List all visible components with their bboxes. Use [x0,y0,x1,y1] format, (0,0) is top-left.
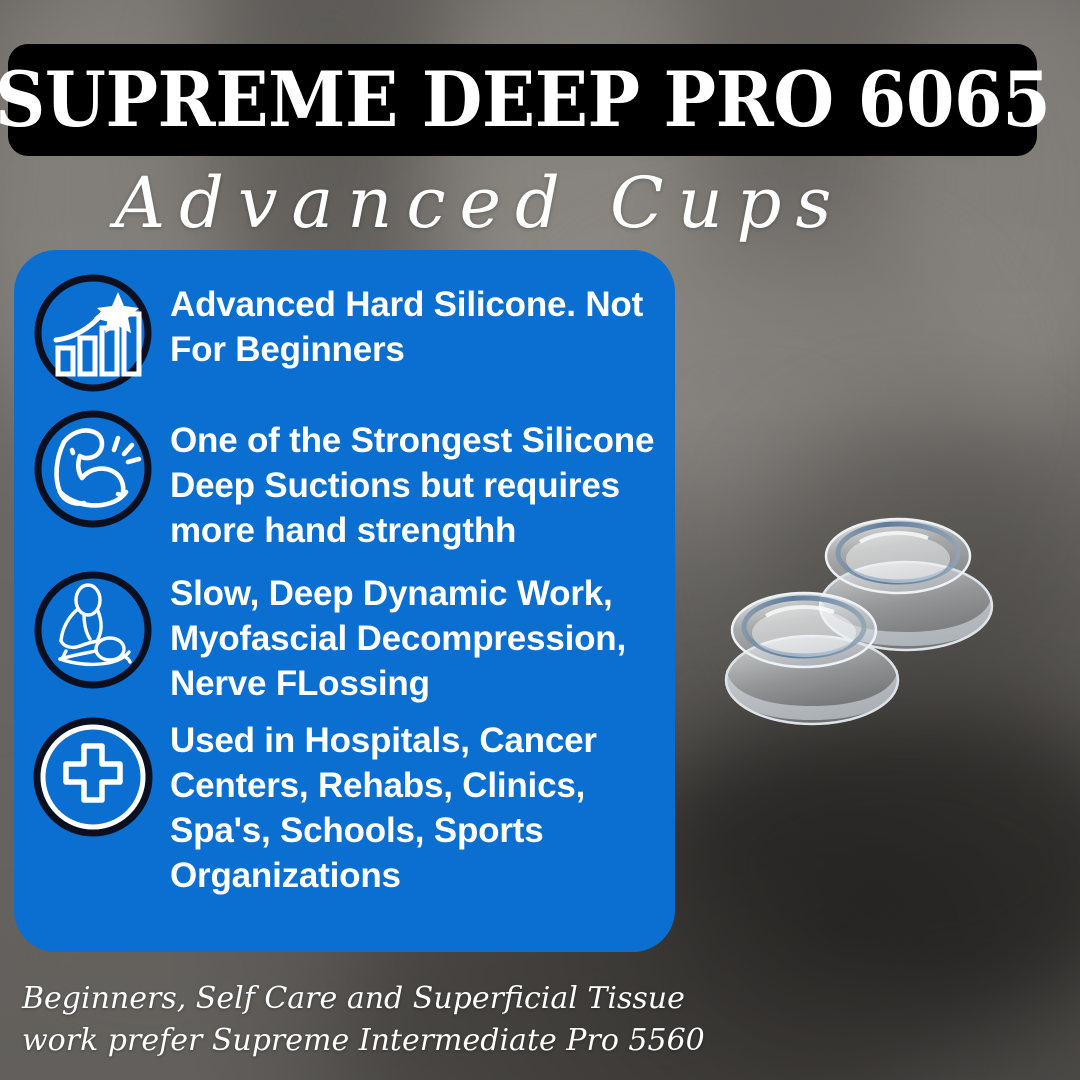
feature-label: Used in Hospitals, Cancer Centers, Rehab… [170,714,665,898]
product-infographic: SUPREME DEEP PRO 6065 Advanced Cups Adva… [0,0,1080,1080]
flexed-bicep-icon [30,406,156,532]
feature-label: One of the Strongest Silicone Deep Sucti… [170,406,665,553]
feature-row: Used in Hospitals, Cancer Centers, Rehab… [14,714,675,898]
feature-label: Slow, Deep Dynamic Work, Myofascial Deco… [170,567,665,706]
page-title: SUPREME DEEP PRO 6065 [0,62,1050,138]
feature-label: Advanced Hard Silicone. Not For Beginner… [170,270,665,372]
subtitle-script: Advanced Cups [20,158,940,248]
footer-line-1: Beginners, Self Care and Superficial Tis… [22,978,722,1020]
massage-therapy-icon [30,567,156,693]
footer-line-2: work prefer Supreme Intermediate Pro 556… [22,1020,722,1062]
feature-panel: Advanced Hard Silicone. Not For Beginner… [14,250,675,952]
feature-row: Slow, Deep Dynamic Work, Myofascial Deco… [14,567,675,706]
medical-cross-icon [30,714,156,840]
feature-row: Advanced Hard Silicone. Not For Beginner… [14,270,675,396]
product-photo-cupping-cups [700,430,1040,740]
growth-chart-star-icon [30,270,156,396]
footer-note: Beginners, Self Care and Superficial Tis… [22,978,722,1062]
title-banner: SUPREME DEEP PRO 6065 [8,44,1037,156]
feature-row: One of the Strongest Silicone Deep Sucti… [14,406,675,553]
